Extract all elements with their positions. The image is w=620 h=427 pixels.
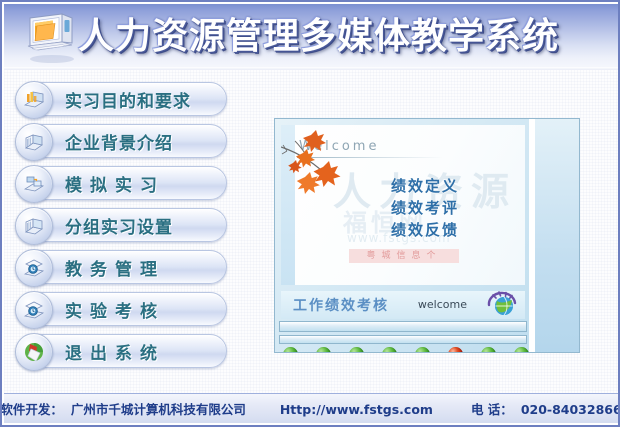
flow-box-icon <box>15 165 53 203</box>
footer-company: 广州市千城计算机科技有限公司 <box>71 402 246 417</box>
panel-right-strip <box>535 119 579 352</box>
panel-bar-upper <box>279 321 527 332</box>
menu-item-label: 模拟实习 <box>65 171 165 196</box>
sphere-indicator[interactable] <box>448 347 466 353</box>
menu-item-label: 企业背景介绍 <box>65 129 173 154</box>
sphere-green <box>316 347 331 353</box>
app-header: 人力资源管理多媒体教学系统 <box>4 4 618 70</box>
footer-bar: 软件开发：广州市千城计算机科技有限公司Http://www.fstgs.com电… <box>4 393 618 423</box>
globe-icon <box>485 289 519 319</box>
main-menu: 实习目的和要求 企业背景介绍 <box>22 82 252 376</box>
topic-line: 绩效考评 <box>391 197 459 218</box>
menu-item-exam[interactable]: 实验考核 <box>22 292 227 326</box>
menu-item-label: 教务管理 <box>65 255 165 280</box>
sphere-green <box>514 347 529 353</box>
slide-canvas: 人力资源 福恒网 www.fstgs.com 粤城信息个 Welcome <box>281 125 525 285</box>
sphere-green <box>415 347 430 353</box>
computer-folder-icon <box>22 12 76 64</box>
sphere-indicator[interactable] <box>481 347 499 353</box>
menu-item-label: 实习目的和要求 <box>65 87 191 112</box>
application-window: 人力资源管理多媒体教学系统 实习目的和要求 <box>0 0 620 427</box>
menu-item-company-background[interactable]: 企业背景介绍 <box>22 124 227 158</box>
page-title: 人力资源管理多媒体教学系统 <box>78 10 598 64</box>
panel-right-divider <box>529 119 535 352</box>
topic-line: 绩效反馈 <box>391 219 459 240</box>
menu-item-internship-goals[interactable]: 实习目的和要求 <box>22 82 227 116</box>
topic-line: 绩效定义 <box>391 175 459 196</box>
sphere-green <box>283 347 298 353</box>
footer-phone-label: 电 话： <box>471 402 513 417</box>
sphere-green <box>481 347 496 353</box>
content-panel: 人力资源 福恒网 www.fstgs.com 粤城信息个 Welcome <box>274 118 580 353</box>
menu-item-group-setup[interactable]: 分组实习设置 <box>22 208 227 242</box>
sphere-red <box>448 347 463 353</box>
footer-text: 软件开发：广州市千城计算机科技有限公司Http://www.fstgs.com电… <box>0 399 620 418</box>
books-icon <box>15 123 53 161</box>
menu-item-label: 实验考核 <box>65 297 165 322</box>
sphere-indicator[interactable] <box>514 347 532 353</box>
menu-item-exit[interactable]: 退出系统 <box>22 334 227 368</box>
sphere-indicator-row <box>279 347 547 353</box>
footer-url[interactable]: Http://www.fstgs.com <box>280 402 433 417</box>
sphere-indicator[interactable] <box>316 347 334 353</box>
sphere-green <box>382 347 397 353</box>
watermark-stamp: 粤城信息个 <box>349 249 459 263</box>
sphere-green <box>349 347 364 353</box>
panel-caption-bar: 工作绩效考核 welcome <box>281 291 525 319</box>
panel-bar-lower <box>279 335 527 344</box>
menu-item-academic-admin[interactable]: 教务管理 <box>22 250 227 284</box>
sphere-indicator[interactable] <box>415 347 433 353</box>
menu-item-label: 分组实习设置 <box>65 213 173 238</box>
exit-door-icon <box>15 333 53 371</box>
graduation-icon <box>15 249 53 287</box>
sphere-indicator[interactable] <box>349 347 367 353</box>
sphere-indicator[interactable] <box>283 347 301 353</box>
footer-developer-label: 软件开发： <box>0 402 63 417</box>
footer-phone: 020-84032866 <box>521 402 620 417</box>
sphere-indicator[interactable] <box>382 347 400 353</box>
books-stack-icon <box>15 207 53 245</box>
panel-caption-text: 工作绩效考核 <box>293 295 389 315</box>
menu-item-simulation[interactable]: 模拟实习 <box>22 166 227 200</box>
chart-book-icon <box>15 81 53 119</box>
menu-item-label: 退出系统 <box>65 339 165 364</box>
maple-branch-decoration <box>281 129 391 209</box>
welcome-small-label: welcome <box>418 298 467 311</box>
graduation-icon <box>15 291 53 329</box>
